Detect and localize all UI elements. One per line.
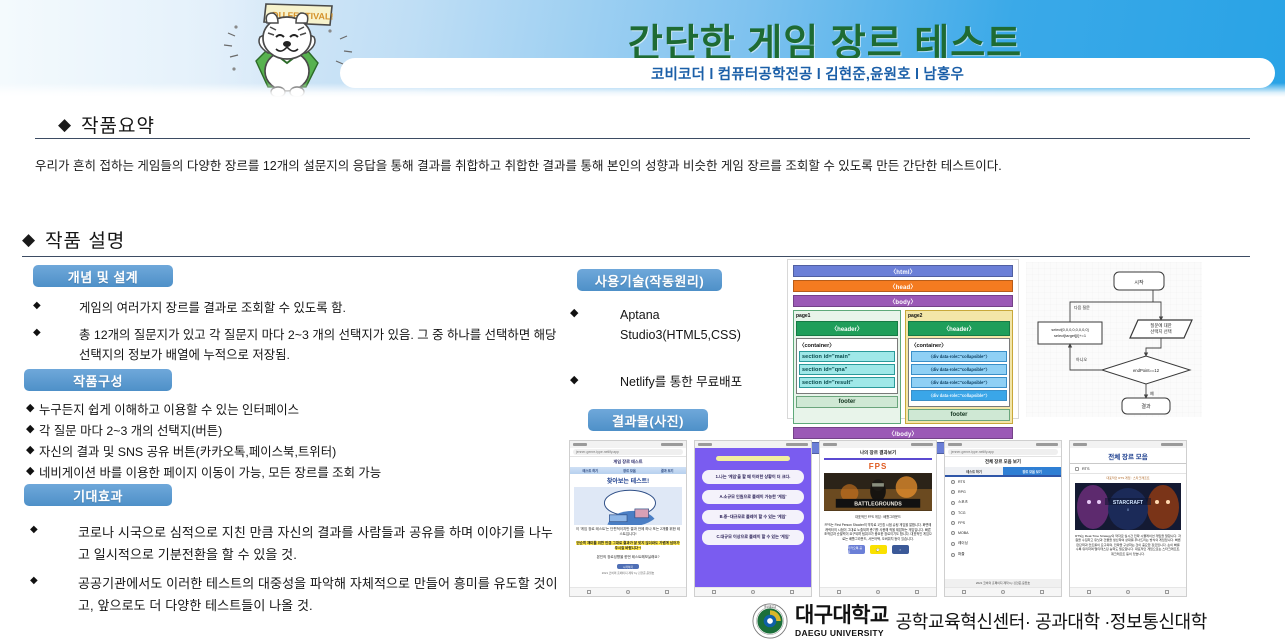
browser-url-bar[interactable]: jenner-genre-type.netlify.app <box>570 448 686 457</box>
flow-end-label: 결과 <box>1141 403 1151 410</box>
genre-list-body: 전체 장르 모음 보기 테스트 하기 장르 모음 보기 RTS RPG 스포츠 … <box>945 457 1061 597</box>
progress-bar <box>716 456 790 461</box>
university-name-en: DAEGU UNIVERSITY <box>795 628 889 638</box>
author-list: 코비코더 l 컴퓨터공학전공 l 김현준,윤원호 l 남홍우 <box>651 63 964 84</box>
diamond-bullet-icon: ◆ <box>26 463 39 480</box>
poster-header: DU FESTIVAL! <box>0 0 1285 97</box>
starcraft-artwork: STARCRAFT II <box>1075 483 1181 530</box>
page1-container-label: 〈container〉 <box>799 341 895 349</box>
list-item[interactable]: TCG <box>945 508 1061 518</box>
svg-text:대구대학교: 대구대학교 <box>764 605 777 609</box>
tag-head: 〈head〉 <box>793 280 1013 292</box>
diamond-bullet-icon: ◆ <box>22 231 35 248</box>
tag-html-open: 〈html〉 <box>793 265 1013 277</box>
diamond-bullet-icon: ◆ <box>30 522 78 538</box>
list-item: ◆ 공공기관에서도 이러한 테스트의 대중성을 파악해 자체적으로 만들어 흥미… <box>30 573 560 617</box>
facebook-share-icon[interactable]: f <box>892 545 909 554</box>
page1-section-main: section id="main" <box>799 351 895 362</box>
tech-item-1: Netlify를 통한 무료배포 <box>620 372 742 392</box>
android-navbar[interactable] <box>695 587 811 596</box>
svg-text:II: II <box>1127 508 1129 512</box>
daegu-university-seal-icon: 대구대학교 <box>752 603 788 639</box>
pill-composition: 작품구성 <box>24 369 172 391</box>
diamond-bullet-icon: ◆ <box>570 305 620 322</box>
answer-option-b[interactable]: B.중~대규모로 플레이 할 수 있는 '게임' <box>702 510 804 524</box>
concept-item-1: 총 12개의 질문지가 있고 각 질문지 마다 2~3 개의 선택지가 있음. … <box>79 325 558 365</box>
effect-item-0: 코로나 시국으로 심적으로 지친 만큼 자신의 결과를 사람들과 공유를 하며 … <box>78 522 560 566</box>
genre-item-3: TCG <box>958 511 966 515</box>
intro-page-body: 게임 장르 테스트 테스트 하기 장르 모음 결과 보기 찾아보는 테스트! 이… <box>570 457 686 597</box>
footer-university-branding: 대구대학교 대구대학교 DAEGU UNIVERSITY 공학교육혁신센터· 공… <box>752 601 1272 641</box>
flow-input-label-2: 선택지 선택 <box>1150 328 1171 335</box>
svg-text:STARCRAFT: STARCRAFT <box>1113 500 1143 506</box>
page2-header: 〈header〉 <box>908 321 1010 336</box>
composition-bullet-list: ◆ 누구든지 쉽게 이해하고 이용할 수 있는 인터페이스 ◆ 각 질문 마다 … <box>26 400 566 484</box>
status-bar <box>820 441 936 448</box>
android-navbar[interactable] <box>570 587 686 596</box>
flow-start-label: 시작 <box>1134 279 1144 286</box>
pill-concept-design: 개념 및 설계 <box>33 265 173 287</box>
tag-body-open: 〈body〉 <box>793 295 1013 307</box>
share-link-button[interactable]: 카카오톡 공유 <box>848 545 865 554</box>
tech-bullet-list: ◆ Aptana Studio3(HTML5,CSS) ◆ Netlify를 통… <box>570 305 780 418</box>
result-genre-label: FPS <box>820 462 936 471</box>
expand-icon[interactable] <box>1075 467 1079 471</box>
image-caption: 대표적인 RTS 게임 : 스타크래프트 <box>1070 474 1186 482</box>
list-item: ◆ Netlify를 통한 무료배포 <box>570 372 780 392</box>
title-underline <box>824 458 932 460</box>
screenshot-question-page[interactable]: 1.나는 '게임'을 할 때 이러한 상황이 더 크다. A.소규모 인원으로 … <box>694 440 812 597</box>
diamond-bullet-icon: ◆ <box>58 116 71 133</box>
start-button[interactable]: 시작하기 <box>617 564 639 569</box>
accordion-rts-label: RTS <box>1082 467 1090 471</box>
page2-div-2: 〈div data-role="collapsible"〉 <box>911 377 1007 388</box>
genre-item-2: 스포츠 <box>958 500 968 505</box>
pill-concept-design-label: 개념 및 설계 <box>68 267 139 286</box>
pill-composition-label: 작품구성 <box>73 371 123 390</box>
intro-illustration <box>574 487 682 525</box>
genre-item-6: 레이싱 <box>958 541 968 546</box>
page1-footer: footer <box>796 396 898 408</box>
list-item: ◆ 게임의 여러가지 장르를 결과로 조회할 수 있도록 함. <box>33 298 558 318</box>
pill-results-photos: 결과물(사진) <box>588 409 708 431</box>
screenshot-intro-page[interactable]: jenner-genre-type.netlify.app 게임 장르 테스트 … <box>569 440 687 597</box>
flow-edge-next: 다음 질문 <box>1074 304 1090 310</box>
android-navbar[interactable] <box>820 587 936 596</box>
status-bar <box>1070 441 1186 448</box>
description-divider <box>22 256 1250 257</box>
android-navbar[interactable] <box>945 587 1061 596</box>
page1-section-result: section id="result" <box>799 377 895 388</box>
tab-group[interactable]: 테스트 하기 장르 모음 보기 <box>945 467 1061 475</box>
radio-icon[interactable] <box>951 511 955 515</box>
department-list: 공학교육혁신센터· 공과대학 ·정보통신대학 <box>896 608 1207 634</box>
radio-icon[interactable] <box>951 480 955 484</box>
pill-tech-used: 사용기술(작동원리) <box>577 269 722 291</box>
site-navbar[interactable]: 테스트 하기 장르 모음 결과 보기 <box>570 467 686 474</box>
tab-genre-list[interactable]: 장르 모음 보기 <box>1003 467 1061 475</box>
list-item: ◆ 누구든지 쉽게 이해하고 이용할 수 있는 인터페이스 <box>26 400 566 420</box>
page2-footer: footer <box>908 409 1010 421</box>
share-button-group[interactable]: 카카오톡 공유 💬 f <box>820 545 936 554</box>
screenshot-result-page[interactable]: 나의 장르 결과보기 FPS BATTLEGROUNDS 대표적인 FPS 게임… <box>819 440 937 597</box>
radio-icon[interactable] <box>951 501 955 505</box>
flow-edge-no: 아니오 <box>1076 356 1087 362</box>
list-item[interactable]: MOBA <box>945 528 1061 538</box>
list-item[interactable]: 퍼즐 <box>945 549 1061 560</box>
page2-div-1: 〈div data-role="collapsible"〉 <box>911 364 1007 375</box>
concept-item-0: 게임의 여러가지 장르를 결과로 조회할 수 있도록 함. <box>79 298 346 318</box>
html-structure-diagram: 〈html〉 〈head〉 〈body〉 page1 〈header〉 〈con… <box>787 259 1019 419</box>
summary-section-heading: ◆ 작품요약 <box>58 111 155 138</box>
summary-heading-label: 작품요약 <box>81 111 155 138</box>
android-navbar[interactable] <box>1070 587 1186 596</box>
result-page-body: 나의 장르 결과보기 FPS BATTLEGROUNDS 대표적인 FPS 게임… <box>820 448 936 554</box>
algorithm-flowchart: 시작 질문에 대한 선택지 선택 select[0,0,0,0,0,0,0,0]… <box>1026 262 1202 417</box>
list-item: ◆ 각 질문 마다 2~3 개의 선택지(버튼) <box>26 421 566 441</box>
page1-label: page1 <box>796 313 898 319</box>
radio-icon[interactable] <box>951 521 955 525</box>
radio-icon[interactable] <box>951 553 955 557</box>
result-description: FPS는 First Person Shooter의 약자로 1인칭 시점 슈팅… <box>820 521 936 543</box>
page2-label: page2 <box>908 313 1010 319</box>
diagram-page1: page1 〈header〉 〈container〉 section id="m… <box>793 310 901 424</box>
composition-item-0: 누구든지 쉽게 이해하고 이용할 수 있는 인터페이스 <box>39 400 299 420</box>
radio-icon[interactable] <box>951 531 955 535</box>
flow-process-line2: select[target][i]+=1 <box>1054 333 1086 338</box>
tech-item-0: Aptana Studio3(HTML5,CSS) <box>620 305 780 346</box>
battlegrounds-artwork: BATTLEGROUNDS <box>824 473 932 511</box>
intro-heading: 찾아보는 테스트! <box>570 474 686 487</box>
diamond-bullet-icon: ◆ <box>26 400 39 417</box>
university-name-ko: 대구대학교 <box>795 605 889 626</box>
game-cover-image: BATTLEGROUNDS <box>824 473 932 511</box>
list-item[interactable]: RPG <box>945 487 1061 497</box>
page1-header: 〈header〉 <box>796 321 898 336</box>
genre-item-7: 퍼즐 <box>958 552 965 557</box>
header-bottom-fade <box>0 83 1285 97</box>
radio-icon[interactable] <box>951 542 955 546</box>
site-footer-credit: 2021 코비의 홈페이지 제작 by 김현준,윤원호 <box>945 579 1061 587</box>
genre-item-1: RPG <box>958 490 966 494</box>
page1-section-qna: section id="qna" <box>799 364 895 375</box>
list-item[interactable]: FPS <box>945 518 1061 528</box>
page2-div-3: 〈div data-role="collapsible"〉 <box>911 390 1007 401</box>
diamond-bullet-icon: ◆ <box>26 421 39 438</box>
speech-bubble-icon <box>574 487 682 525</box>
page2-div-0: 〈div data-role="collapsible"〉 <box>911 351 1007 362</box>
status-bar <box>570 441 686 448</box>
radio-icon[interactable] <box>951 490 955 494</box>
pill-tech-used-label: 사용기술(작동원리) <box>595 271 704 290</box>
nav-item-1[interactable]: 장르 모음 <box>623 468 636 473</box>
diamond-bullet-icon: ◆ <box>570 372 620 389</box>
diamond-bullet-icon: ◆ <box>26 442 39 459</box>
result-title: 나의 장르 결과보기 <box>820 448 936 458</box>
question-text: 1.나는 '게임'을 할 때 이러한 상황이 더 크다. <box>702 470 804 484</box>
list-item[interactable]: RTS <box>945 477 1061 487</box>
genre-item-0: RTS <box>958 480 965 484</box>
genre-detail-description: RTS는 Real-Time Strategy의 약자로 실시간 전략 시뮬레이… <box>1070 531 1186 559</box>
page2-container: 〈container〉 〈div data-role="collapsible"… <box>908 338 1010 407</box>
diagram-pages: page1 〈header〉 〈container〉 section id="m… <box>793 310 1013 424</box>
image-caption: 대표적인 FPS 게임 : 배틀그라운드 <box>820 513 936 522</box>
diamond-bullet-icon: ◆ <box>30 573 78 589</box>
list-item: ◆ Aptana Studio3(HTML5,CSS) <box>570 305 780 346</box>
list-item[interactable]: 스포츠 <box>945 497 1061 508</box>
pill-expected-effect-label: 기대효과 <box>73 486 123 505</box>
poster-canvas: DU FESTIVAL! <box>0 0 1285 643</box>
genre-list-title: 전체 장르 모음 보기 <box>945 457 1061 467</box>
summary-divider <box>35 138 1250 139</box>
status-bar <box>945 441 1061 448</box>
intro-paragraph-highlight: 단순히 재미를 위한 만큼 그대로 결과가 잘 맞지 않더라도 가볍게 넘어가주… <box>576 541 679 550</box>
concept-bullet-list: ◆ 게임의 여러가지 장르를 결과로 조회할 수 있도록 함. ◆ 총 12개의… <box>33 298 558 372</box>
flow-input-label-1: 질문에 대한 <box>1150 322 1171 329</box>
answer-option-a[interactable]: A.소규모 인원으로 플레이 가능한 '게임' <box>702 490 804 504</box>
list-item: ◆ 코로나 시국으로 심적으로 지친 만큼 자신의 결과를 사람들과 공유를 하… <box>30 522 560 566</box>
answer-option-c[interactable]: C.대규모 이상으로 플레이 할 수 있는 '게임' <box>702 530 804 544</box>
flow-process-line1: select[0,0,0,0,0,0,0,0] <box>1051 327 1088 332</box>
composition-item-3: 네비게이션 바를 이용한 페이지 이동이 가능, 모든 장르를 조회 가능 <box>39 463 381 483</box>
composition-item-1: 각 질문 마다 2~3 개의 선택지(버튼) <box>39 421 222 441</box>
list-item: ◆ 총 12개의 질문지가 있고 각 질문지 마다 2~3 개의 선택지가 있음… <box>33 325 558 365</box>
kakaotalk-share-icon[interactable]: 💬 <box>870 545 887 554</box>
diamond-bullet-icon: ◆ <box>33 298 79 314</box>
pill-expected-effect: 기대효과 <box>24 484 172 506</box>
list-item: ◆ 자신의 결과 및 SNS 공유 버튼(카카오톡,페이스북,트위터) <box>26 442 566 462</box>
diamond-bullet-icon: ◆ <box>33 325 79 341</box>
tab-test[interactable]: 테스트 하기 <box>945 467 1003 475</box>
browser-url-bar[interactable]: jenner-genre-type.netlify.app <box>945 448 1061 457</box>
list-item: ◆ 네비게이션 바를 이용한 페이지 이동이 가능, 모든 장르를 조회 가능 <box>26 463 566 483</box>
page2-container-label: 〈container〉 <box>911 341 1007 349</box>
summary-body-text: 우리가 흔히 접하는 게임들의 다양한 장르를 12개의 설문지의 응답을 통해… <box>35 156 1250 176</box>
tag-body-close: 〈/body〉 <box>793 427 1013 439</box>
intro-paragraph-1: 이 '게임 장르 테스트'는 단편적이지만 결과 안에 하나 또는 2개를 위한… <box>570 525 686 539</box>
flow-decision-label: endPoint==12 <box>1133 368 1160 373</box>
genre-detail-body: 전체 장르 모음 RTS 대표적인 RTS 게임 : 스타크래프트 STARCR… <box>1070 448 1186 596</box>
page1-container: 〈container〉 section id="main" section id… <box>796 338 898 394</box>
screenshot-genre-detail-page[interactable]: 전체 장르 모음 RTS 대표적인 RTS 게임 : 스타크래프트 STARCR… <box>1069 440 1187 597</box>
effect-bullet-list: ◆ 코로나 시국으로 심적으로 지친 만큼 자신의 결과를 사람들과 공유를 하… <box>30 522 560 624</box>
status-bar <box>695 441 811 448</box>
description-heading-label: 작품 설명 <box>45 226 125 253</box>
site-title: 게임 장르 테스트 <box>570 457 686 467</box>
accordion-rts[interactable]: RTS <box>1070 464 1186 474</box>
svg-text:BATTLEGROUNDS: BATTLEGROUNDS <box>854 501 902 507</box>
site-footer-credit: 2021 코비의 홈페이지 제작 by 김현준,윤원호 <box>570 571 686 575</box>
nav-item-0[interactable]: 테스트 하기 <box>583 468 599 473</box>
question-page-body: 1.나는 '게임'을 할 때 이러한 상황이 더 크다. A.소규모 인원으로 … <box>695 448 811 596</box>
pill-results-photos-label: 결과물(사진) <box>612 411 684 430</box>
flow-edge-yes: 예 <box>1150 390 1154 396</box>
description-section-heading: ◆ 작품 설명 <box>22 226 125 253</box>
genre-item-4: FPS <box>958 521 965 525</box>
list-item[interactable]: 레이싱 <box>945 538 1061 549</box>
intro-paragraph-2: 본인의 장르성향을 한번 테스트해보실래요? <box>570 553 686 562</box>
nav-item-2[interactable]: 결과 보기 <box>661 468 674 473</box>
genre-item-5: MOBA <box>958 531 969 535</box>
game-cover-image: STARCRAFT II <box>1075 483 1181 530</box>
effect-item-1: 공공기관에서도 이러한 테스트의 대중성을 파악해 자체적으로 만들어 흥미를 … <box>78 573 560 617</box>
screenshot-genre-list-page[interactable]: jenner-genre-type.netlify.app 전체 장르 모음 보… <box>944 440 1062 597</box>
genre-detail-title: 전체 장르 모음 <box>1070 448 1186 463</box>
url-text: jenner-genre-type.netlify.app <box>948 449 1058 455</box>
university-name-block: 대구대학교 DAEGU UNIVERSITY <box>795 605 889 638</box>
diagram-page2: page2 〈header〉 〈container〉 〈div data-rol… <box>905 310 1013 424</box>
url-text: jenner-genre-type.netlify.app <box>573 449 683 455</box>
composition-item-2: 자신의 결과 및 SNS 공유 버튼(카카오톡,페이스북,트위터) <box>39 442 336 462</box>
